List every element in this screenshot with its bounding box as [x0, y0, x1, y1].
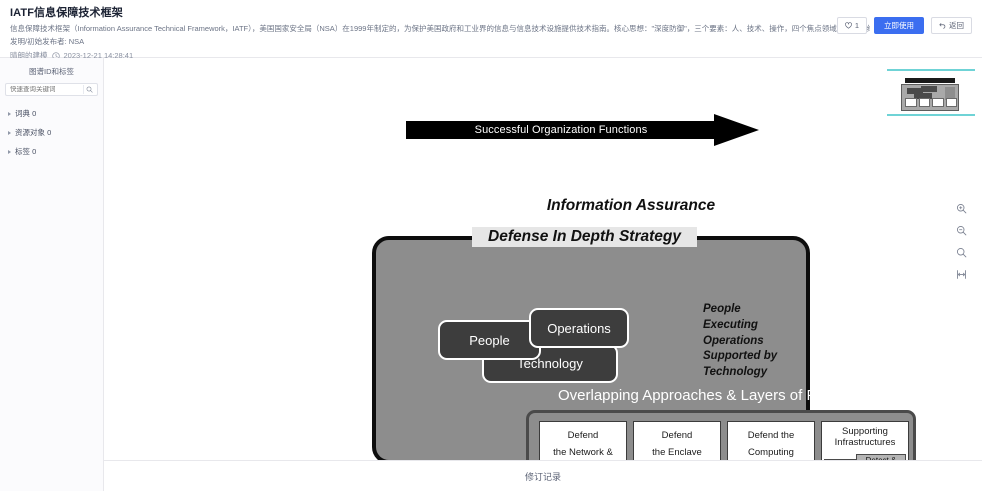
- focus-area-computing: Defend the Computing Environment: [727, 421, 815, 461]
- supporting-title-line1: Supporting: [842, 426, 888, 437]
- success-arrow: Successful Organization Functions: [406, 114, 766, 146]
- pillar-people: People: [438, 320, 541, 360]
- detect-respond-box: Detect & Respond: [856, 454, 906, 461]
- minimap-cell: [905, 98, 917, 107]
- focus-line: Defend: [568, 430, 599, 441]
- arrow-bar: Successful Organization Functions: [406, 121, 716, 139]
- sidebar-item-label: 资源对象 0: [15, 127, 51, 138]
- chevron-right-icon: [8, 112, 11, 116]
- pillar-operations: Operations: [529, 308, 629, 348]
- page-description: 信息保障技术框架（Information Assurance Technical…: [10, 23, 870, 34]
- zoom-out-icon[interactable]: [955, 224, 968, 237]
- fit-screen-icon[interactable]: [955, 268, 968, 281]
- publisher-value: NSA: [69, 37, 84, 46]
- publisher-label: 发明/初始发布者:: [10, 37, 67, 46]
- arrow-label: Successful Organization Functions: [475, 124, 648, 136]
- zoom-reset-icon[interactable]: [955, 246, 968, 259]
- sidebar-item-label: 标签 0: [15, 146, 36, 157]
- side-note-line: Operations: [703, 334, 823, 350]
- page-header: IATF信息保障技术框架 信息保障技术框架（Information Assura…: [0, 0, 982, 58]
- header-actions: 1 立即使用 返回: [837, 17, 972, 34]
- sidebar-search[interactable]: [5, 83, 98, 96]
- use-now-button[interactable]: 立即使用: [874, 17, 924, 34]
- heart-icon: [845, 22, 852, 29]
- minimap-thumbnail[interactable]: [887, 69, 975, 116]
- focus-area-network: Defend the Network & Infrastructure: [539, 421, 627, 461]
- canvas-toolbar: [952, 198, 970, 285]
- iatf-diagram: Successful Organization Functions Inform…: [254, 108, 874, 461]
- search-icon[interactable]: [84, 84, 95, 95]
- like-button[interactable]: 1: [837, 17, 867, 34]
- app-root: IATF信息保障技术框架 信息保障技术框架（Information Assura…: [0, 0, 982, 491]
- supporting-title-line2: Infrastructures: [835, 437, 896, 448]
- side-note-line: Executing: [703, 318, 823, 334]
- side-note-line: Supported by: [703, 349, 823, 365]
- search-input[interactable]: [10, 86, 84, 93]
- focus-line: the Enclave: [652, 447, 702, 458]
- zoom-in-icon[interactable]: [955, 202, 968, 215]
- minimap-body: [901, 84, 959, 111]
- sidebar-title: 图谱ID和标签: [5, 66, 98, 77]
- defense-in-depth-title: Defense In Depth Strategy: [472, 227, 697, 247]
- sidebar-item-dictionary[interactable]: 词典 0: [5, 104, 98, 123]
- back-arrow-icon: [939, 22, 946, 29]
- focus-line: Defend the: [748, 430, 794, 441]
- arrow-head-icon: [714, 114, 759, 146]
- focus-line: the Network &: [553, 447, 613, 458]
- minimap-cell: [919, 98, 931, 107]
- focus-areas-container: Defend the Network & Infrastructure Defe…: [526, 410, 916, 461]
- sidebar: 图谱ID和标签 词典 0 资源对象 0 标签 0: [0, 58, 104, 491]
- chevron-right-icon: [8, 131, 11, 135]
- minimap-block: [921, 86, 937, 92]
- information-assurance-title: Information Assurance: [501, 197, 761, 215]
- sidebar-item-resources[interactable]: 资源对象 0: [5, 123, 98, 142]
- back-button[interactable]: 返回: [931, 17, 972, 34]
- sidebar-item-label: 词典 0: [15, 108, 36, 119]
- minimap-cell: [932, 98, 944, 107]
- overlapping-approaches-label: Overlapping Approaches & Layers of Prote…: [516, 387, 916, 404]
- page-title: IATF信息保障技术框架: [10, 6, 972, 20]
- focus-area-supporting: Supporting Infrastructures KMI/PKI Detec…: [821, 421, 909, 461]
- minimap-content: [901, 78, 959, 111]
- minimap-cell: [946, 98, 958, 107]
- focus-line: Computing: [748, 447, 794, 458]
- focus-area-enclave: Defend the Enclave Boundary: [633, 421, 721, 461]
- focus-line: Defend: [662, 430, 693, 441]
- publisher-line: 发明/初始发布者: NSA: [10, 36, 972, 47]
- defense-outer-container: People Operations Technology People Exec…: [372, 236, 810, 461]
- side-note-line: People: [703, 302, 823, 318]
- like-count: 1: [855, 22, 859, 30]
- revision-record-link[interactable]: 修订记录: [525, 470, 561, 483]
- diagram-canvas[interactable]: Successful Organization Functions Inform…: [104, 58, 982, 461]
- side-note: People Executing Operations Supported by…: [703, 302, 823, 381]
- side-note-line: Technology: [703, 365, 823, 381]
- chevron-right-icon: [8, 150, 11, 154]
- footer-bar: 修订记录: [104, 461, 982, 491]
- sidebar-item-tags[interactable]: 标签 0: [5, 142, 98, 161]
- back-label: 返回: [949, 22, 964, 30]
- minimap-row: [905, 98, 957, 107]
- minimap-arrow: [905, 78, 955, 83]
